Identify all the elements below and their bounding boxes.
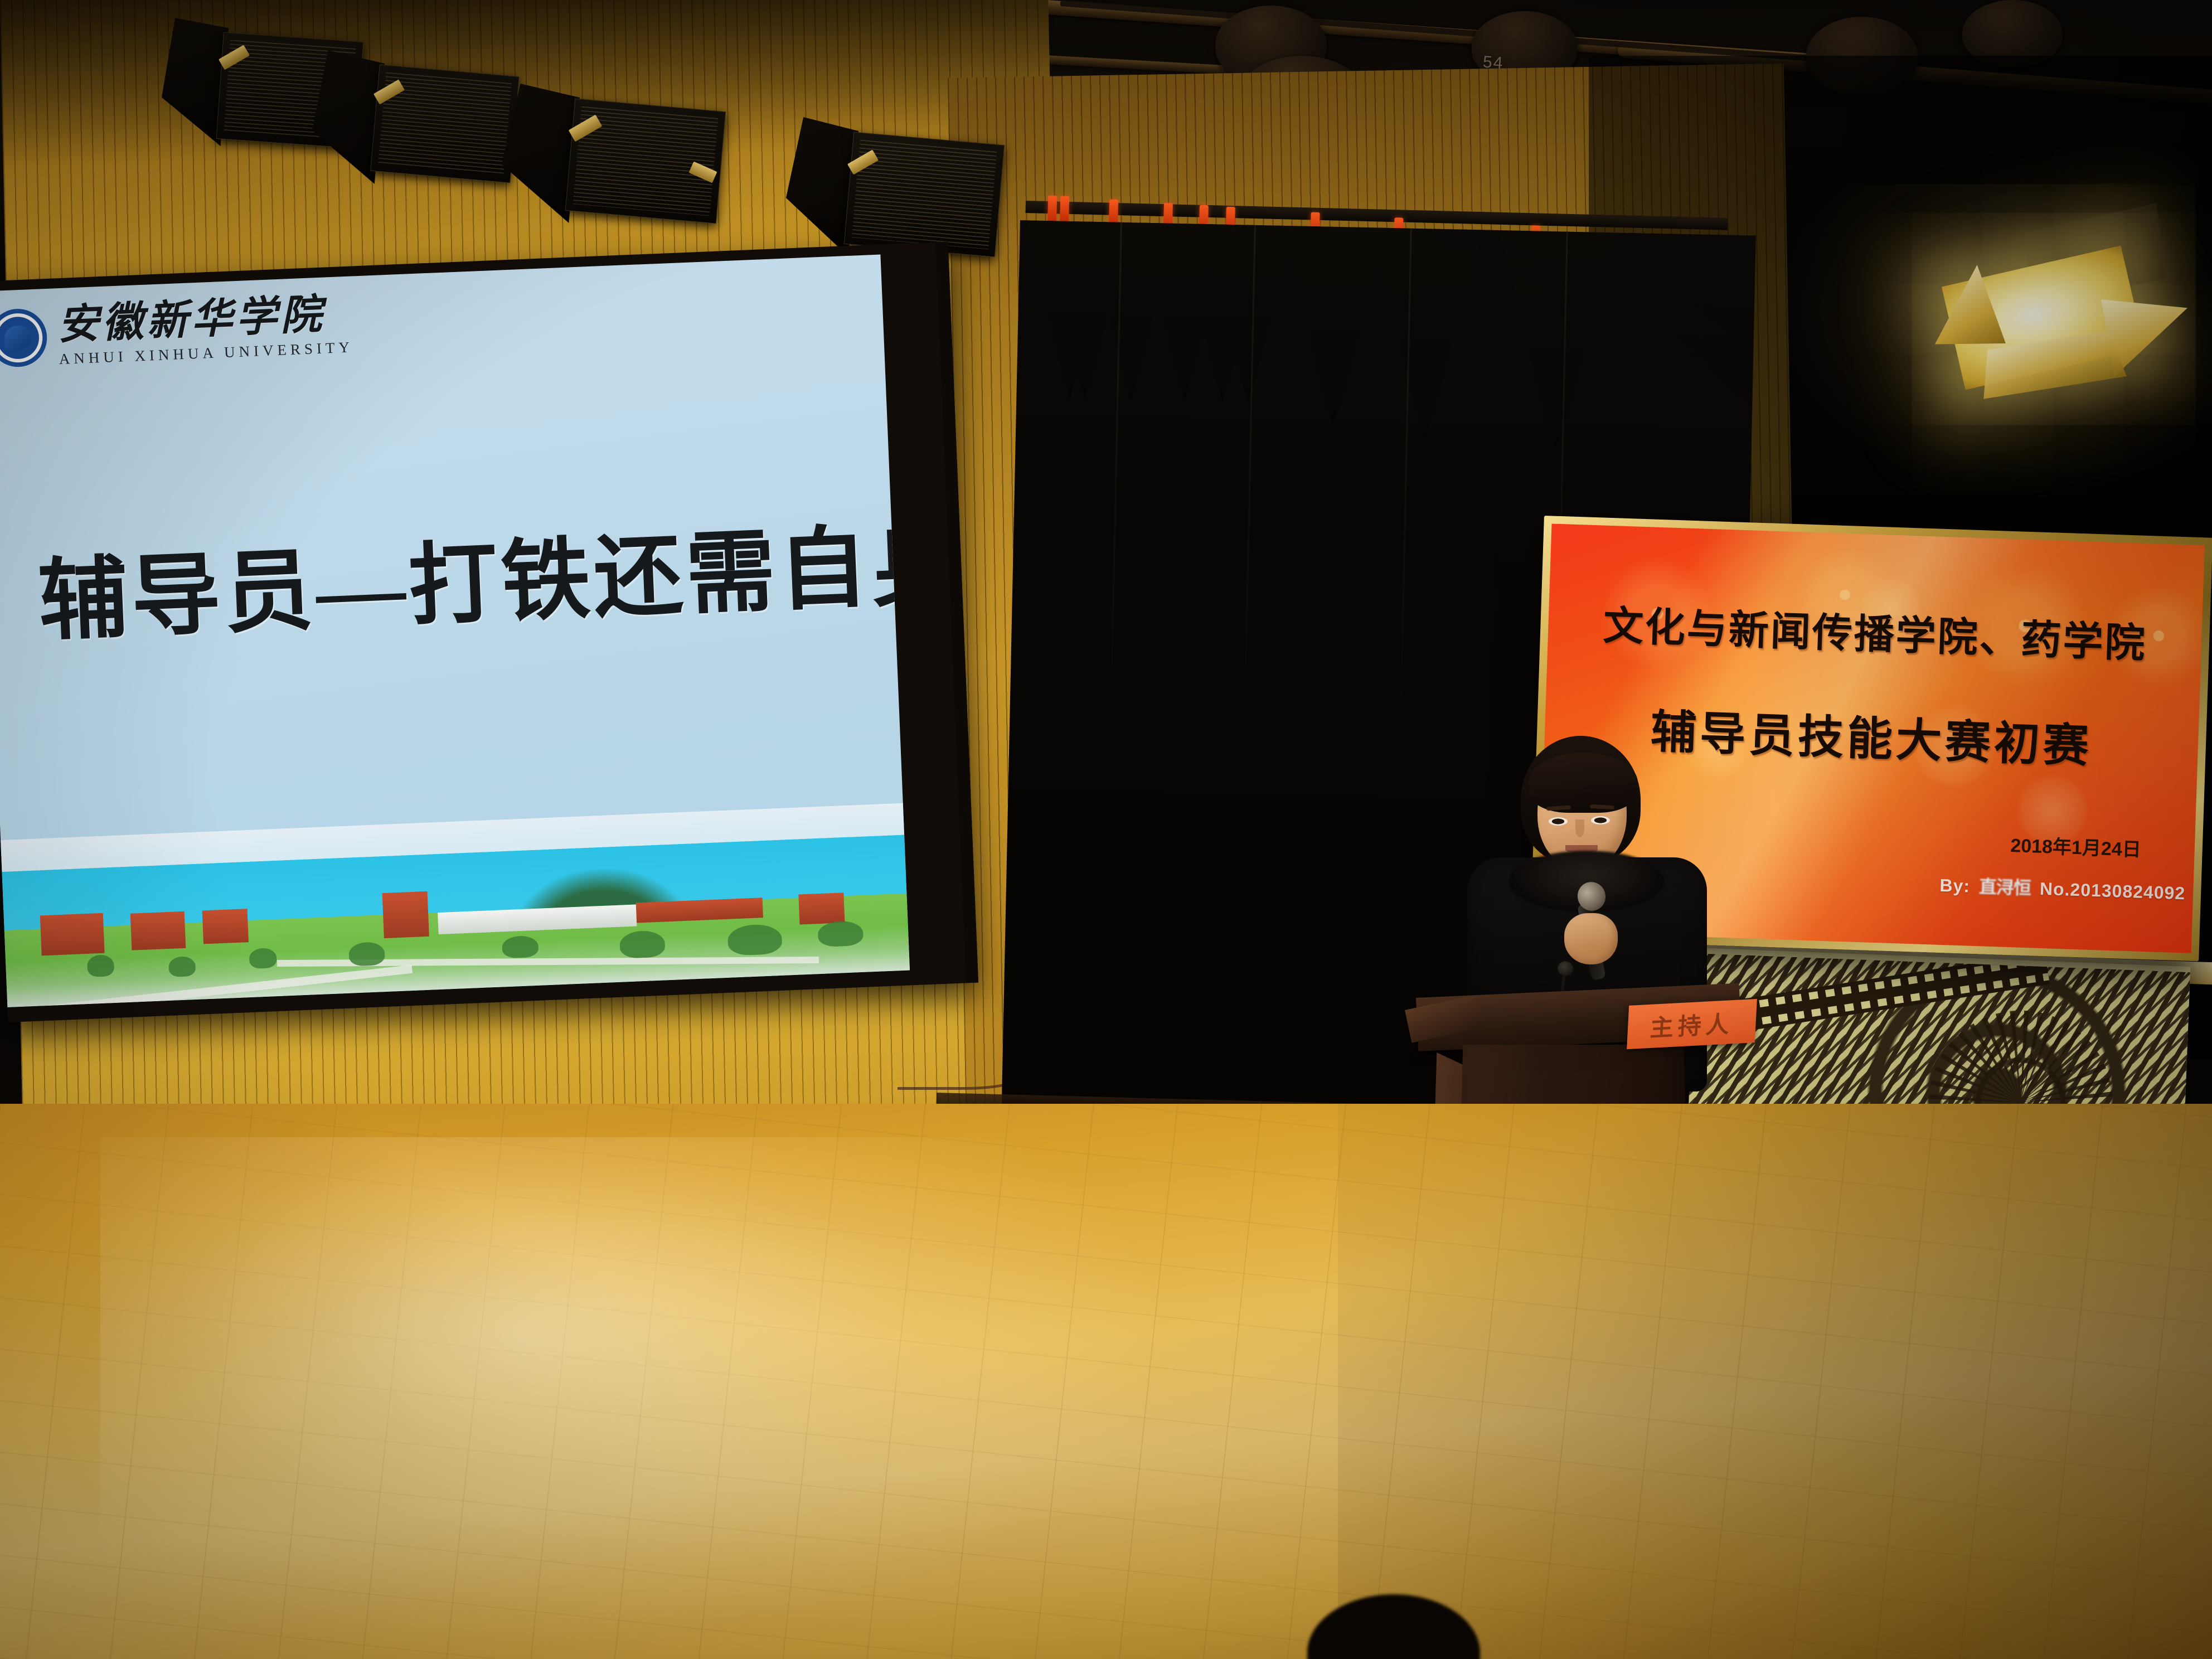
- light-body: [844, 132, 1005, 258]
- curtain-swag: [1495, 230, 1616, 455]
- nose: [1575, 819, 1584, 837]
- eye: [1549, 817, 1568, 826]
- lit-floodlight-fixture: [1884, 220, 2212, 393]
- stage-light-fixture: [786, 89, 1020, 256]
- university-logo: 安徽新华学院 ANHUI XINHUA UNIVERSITY: [0, 293, 353, 370]
- curtain-swag: [1367, 227, 1483, 442]
- eye: [1591, 816, 1610, 824]
- photo-building: [40, 913, 105, 956]
- curtain-fold: [1102, 222, 1122, 1137]
- curtain-clip: [1109, 200, 1118, 225]
- hair-fringe: [1529, 753, 1638, 813]
- photo-tree: [348, 942, 385, 967]
- led-credit: By:直浔恒 No.20130824092: [1939, 871, 2186, 905]
- curtain-swag: [1278, 226, 1388, 429]
- credit-prefix: By:: [1939, 875, 1971, 897]
- podium-sign: 主持人: [1627, 999, 1757, 1049]
- photo-tree: [249, 948, 277, 969]
- podium-sign-label: 主持人: [1649, 1005, 1734, 1043]
- campus-photo: [1, 803, 910, 1007]
- projection-screen-frame: 安徽新华学院 ANHUI XINHUA UNIVERSITY 辅导员—打铁还需自…: [0, 242, 978, 1022]
- university-seal-icon: [0, 308, 48, 368]
- photo-tree: [168, 956, 196, 977]
- curtain-clip: [1060, 196, 1069, 222]
- curtain-clip: [1047, 196, 1057, 221]
- photo-building: [202, 909, 249, 944]
- led-date: 2018年1月24日: [2010, 830, 2142, 862]
- photo-tree: [502, 935, 539, 959]
- hand: [1564, 913, 1618, 964]
- photo-building: [382, 891, 429, 938]
- stage-light-fixture: [502, 61, 747, 229]
- photo-building: [798, 892, 845, 924]
- wooden-floor: [0, 1104, 2212, 1659]
- photo-building: [130, 911, 186, 950]
- photo-tree: [87, 954, 115, 977]
- university-name-chinese: 安徽新华学院: [57, 293, 353, 347]
- auditorium-scene: 06 41 54: [0, 0, 2212, 1659]
- projection-screen: 安徽新华学院 ANHUI XINHUA UNIVERSITY 辅导员—打铁还需自…: [0, 255, 910, 1007]
- credit-name: 直浔恒: [1978, 872, 2031, 900]
- slide-title: 辅导员—打铁还需自身硬: [36, 496, 848, 658]
- credit-number: No.20130824092: [2039, 879, 2185, 904]
- light-body: [565, 99, 726, 224]
